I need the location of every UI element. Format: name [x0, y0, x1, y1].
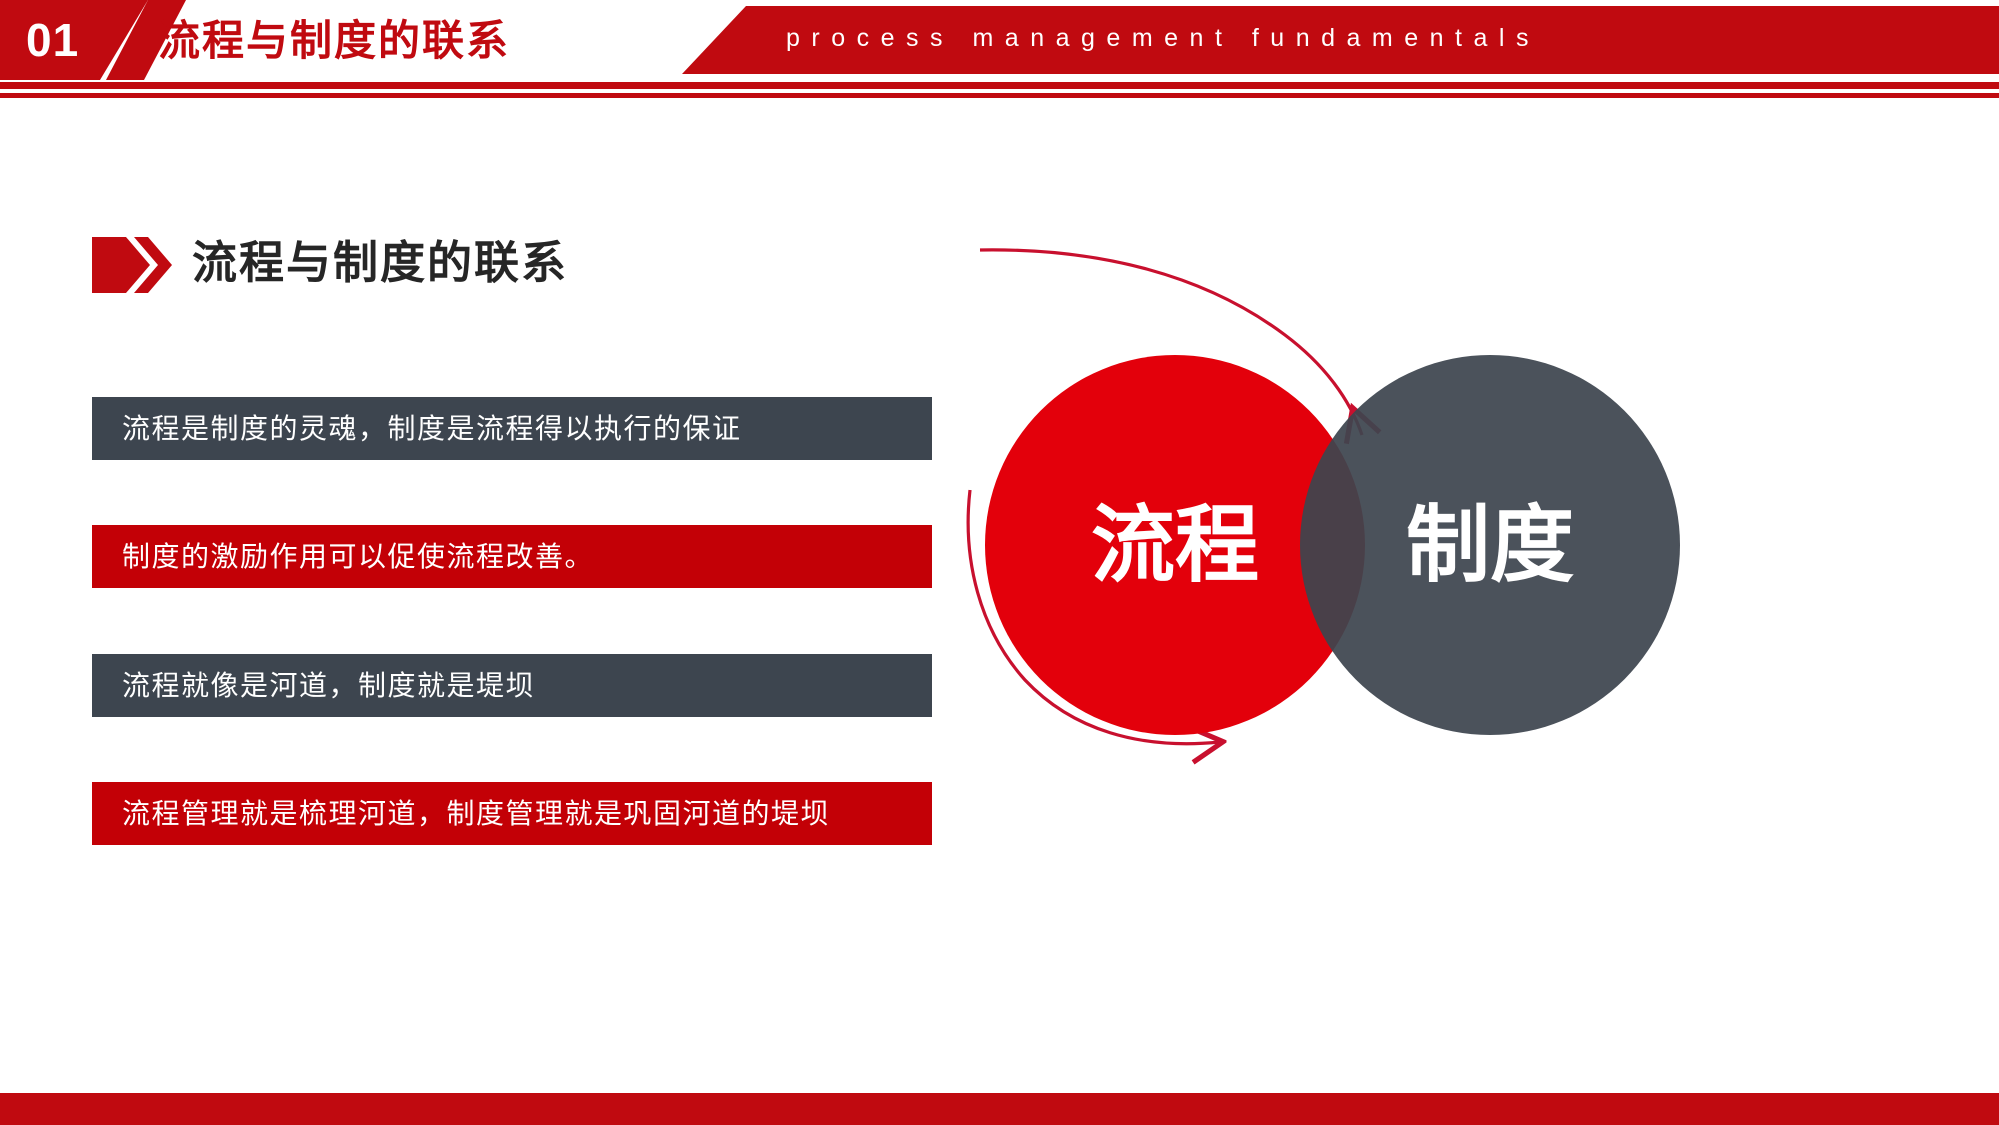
- header-rule-top: [0, 82, 1999, 89]
- header-subtitle: process management fundamentals: [786, 20, 1540, 56]
- header-number: 01: [26, 11, 79, 69]
- section-title: 流程与制度的联系: [192, 229, 568, 297]
- venn-label-left: 流程: [1091, 498, 1259, 592]
- statement-bar-2: 制度的激励作用可以促使流程改善。: [92, 525, 932, 588]
- statement-text-2: 制度的激励作用可以促使流程改善。: [92, 537, 594, 577]
- venn-diagram: 流程 制度: [960, 230, 1960, 910]
- statement-text-4: 流程管理就是梳理河道，制度管理就是巩固河道的堤坝: [92, 794, 830, 834]
- header-rule-bottom: [0, 93, 1999, 98]
- statement-bar-3: 流程就像是河道，制度就是堤坝: [92, 654, 932, 717]
- statement-text-1: 流程是制度的灵魂，制度是流程得以执行的保证: [92, 409, 742, 449]
- statement-text-3: 流程就像是河道，制度就是堤坝: [92, 666, 535, 706]
- slide-header: 01 流程与制度的联系 process management fundament…: [0, 0, 1999, 80]
- header-title: 流程与制度的联系: [158, 10, 510, 72]
- section-heading: 流程与制度的联系: [92, 233, 692, 295]
- venn-label-right: 制度: [1406, 498, 1574, 592]
- double-chevron-right-icon: [92, 237, 172, 293]
- statement-bar-1: 流程是制度的灵魂，制度是流程得以执行的保证: [92, 397, 932, 460]
- slide-footer: [0, 1093, 1999, 1125]
- statement-bar-4: 流程管理就是梳理河道，制度管理就是巩固河道的堤坝: [92, 782, 932, 845]
